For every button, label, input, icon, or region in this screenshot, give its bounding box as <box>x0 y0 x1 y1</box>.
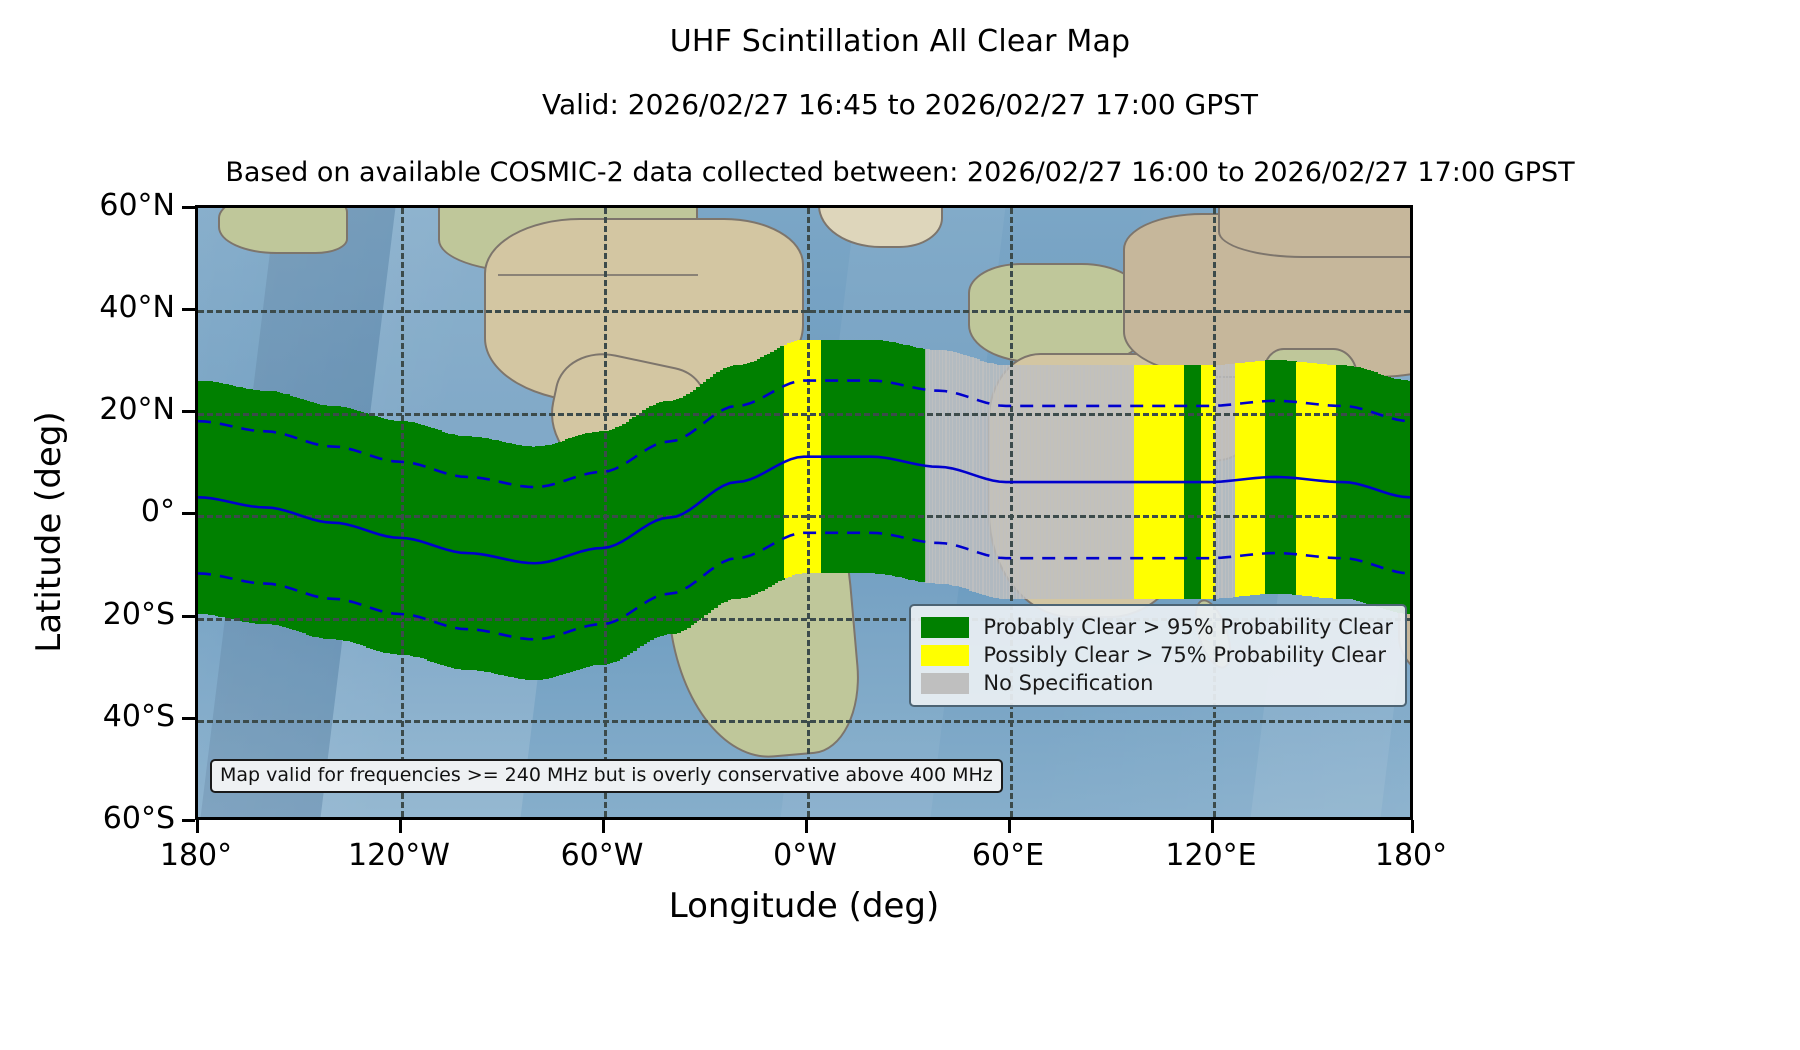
legend-item-probably-clear: Probably Clear > 95% Probability Clear <box>921 613 1393 641</box>
tick-lat-60N <box>182 206 195 209</box>
tick-lon-120E <box>1211 820 1214 833</box>
legend-item-no-specification: No Specification <box>921 669 1393 697</box>
tick-lat-40N <box>182 308 195 311</box>
legend-swatch-probably-clear <box>921 617 969 638</box>
legend-swatch-possibly-clear <box>921 645 969 666</box>
page-title: UHF Scintillation All Clear Map <box>0 24 1800 59</box>
ticklabel-lon-120W: 120°W <box>299 838 499 873</box>
tick-lat-20N <box>182 410 195 413</box>
y-axis-label: Latitude (deg) <box>29 322 69 742</box>
legend-item-possibly-clear: Possibly Clear > 75% Probability Clear <box>921 641 1393 669</box>
legend-label-no-specification: No Specification <box>983 671 1153 695</box>
legend-label-probably-clear: Probably Clear > 95% Probability Clear <box>983 615 1393 639</box>
tick-lon-0 <box>805 820 808 833</box>
legend: Probably Clear > 95% Probability Clear P… <box>909 604 1407 707</box>
magnetic-equator-lines <box>198 208 1410 817</box>
tick-lat-20S <box>182 615 195 618</box>
tick-lon-60W <box>602 820 605 833</box>
tick-lon-60E <box>1008 820 1011 833</box>
data-source-subtitle: Based on available COSMIC-2 data collect… <box>0 157 1800 188</box>
map-plot-area[interactable]: Map valid for frequencies >= 240 MHz but… <box>195 205 1413 820</box>
legend-swatch-no-specification <box>921 673 969 694</box>
tick-lat-60S <box>182 819 195 822</box>
ticklabel-lat-40S: 40°S <box>0 699 175 734</box>
ticklabel-lon-120E: 120°E <box>1111 838 1311 873</box>
ticklabel-lon-180W: 180° <box>96 838 296 873</box>
title-block: UHF Scintillation All Clear Map Valid: 2… <box>0 0 1800 121</box>
frequency-validity-note: Map valid for frequencies >= 240 MHz but… <box>210 759 1003 793</box>
ticklabel-lat-60N: 60°N <box>0 188 175 223</box>
tick-lat-0 <box>182 512 195 515</box>
ticklabel-lon-0: 0°W <box>705 838 905 873</box>
legend-label-possibly-clear: Possibly Clear > 75% Probability Clear <box>983 643 1386 667</box>
tick-lon-120W <box>399 820 402 833</box>
ticklabel-lat-60S: 60°S <box>0 801 175 836</box>
ticklabel-lat-40N: 40°N <box>0 290 175 325</box>
tick-lon-180E <box>1411 820 1414 833</box>
x-axis-label: Longitude (deg) <box>195 886 1413 926</box>
tick-lat-40S <box>182 717 195 720</box>
ticklabel-lon-180E: 180° <box>1311 838 1511 873</box>
ticklabel-lat-20S: 20°S <box>0 597 175 632</box>
ticklabel-lon-60E: 60°E <box>908 838 1108 873</box>
validity-subtitle: Valid: 2026/02/27 16:45 to 2026/02/27 17… <box>0 88 1800 121</box>
ticklabel-lat-20N: 20°N <box>0 392 175 427</box>
ticklabel-lat-0: 0° <box>0 494 175 529</box>
ticklabel-lon-60W: 60°W <box>502 838 702 873</box>
tick-lon-180W <box>196 820 199 833</box>
